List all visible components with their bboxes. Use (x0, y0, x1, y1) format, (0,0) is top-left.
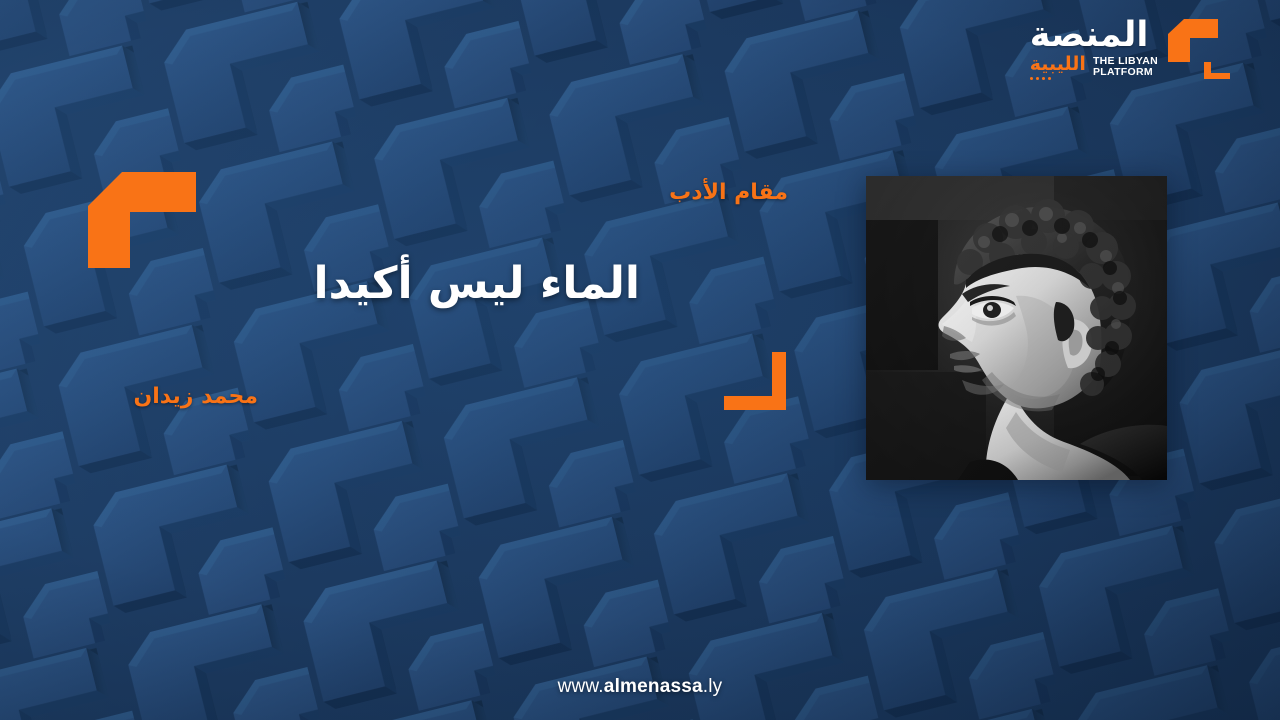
url-name: almenassa (604, 676, 703, 697)
brand-logo[interactable]: المنصة الليبية THE LIBYAN PLATFORM (1030, 18, 1232, 80)
decorative-corner-mark-small (724, 352, 788, 410)
logo-english-lines: THE LIBYAN PLATFORM (1093, 56, 1158, 81)
logo-english-line2: PLATFORM (1093, 67, 1158, 79)
decorative-hook-mark-large (88, 172, 196, 268)
url-prefix: www. (558, 676, 604, 697)
url-suffix: .ly (703, 676, 723, 697)
author-name: محمد زيدان (133, 384, 258, 409)
logo-dots-decoration (1030, 77, 1084, 80)
logo-arabic-sub: الليبية (1030, 55, 1086, 74)
social-card: المنصة الليبية THE LIBYAN PLATFORM مقام … (0, 0, 1280, 720)
author-portrait-photo (866, 176, 1167, 480)
website-url[interactable]: www.almenassa.ly (0, 676, 1280, 698)
episode-title: الماء ليس أكيدا (313, 258, 640, 309)
logo-wordmark: المنصة الليبية THE LIBYAN PLATFORM (1030, 18, 1158, 80)
logo-hook-icon (1166, 18, 1232, 80)
logo-arabic-main: المنصة (1030, 18, 1149, 53)
program-kicker: مقام الأدب (669, 180, 788, 205)
